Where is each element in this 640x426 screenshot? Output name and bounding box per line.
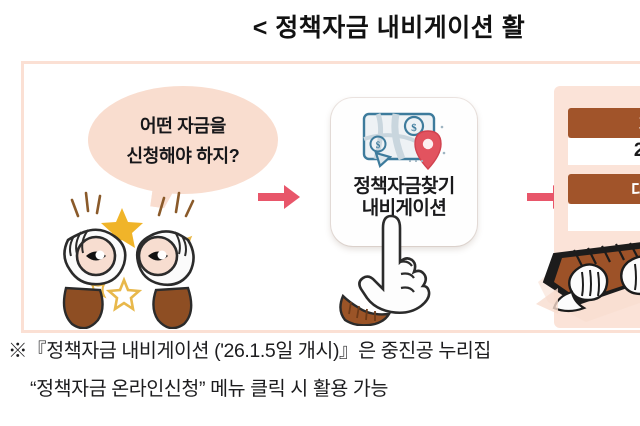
form-field-representative-label: 대표자 — [568, 174, 640, 204]
form-field-company-label: 회사 — [568, 108, 640, 138]
bubble-line-2: 신청해야 하지? — [127, 142, 240, 168]
diagram-frame: 어떤 자금을 신청해야 하지? — [21, 61, 640, 333]
footnote-block: ※『정책자금 내비게이션 ('26.1.5일 개시)』은 중진공 누리집 “정책… — [0, 341, 640, 400]
searching-hands-icon — [48, 184, 228, 329]
app-card-line-1: 정책자금찾기 — [353, 176, 454, 198]
flow-arrow-1 — [256, 182, 302, 212]
typing-hands-keyboard-icon — [532, 216, 640, 334]
footnote-line-2: “정책자금 온라인신청” 메뉴 클릭 시 활용 가능 — [0, 379, 640, 399]
bubble-line-1: 어떤 자금을 — [140, 112, 226, 138]
map-navigation-pin-icon: $ $ — [356, 109, 452, 171]
footnote-line-1: ※『정책자금 내비게이션 ('26.1.5일 개시)』은 중진공 누리집 — [0, 341, 640, 361]
page-title: < 정책자금 내비게이션 활 — [0, 8, 640, 44]
form-field-company: 회사 2020 — [568, 108, 640, 165]
svg-text:$: $ — [376, 140, 381, 150]
question-speech-bubble: 어떤 자금을 신청해야 하지? — [88, 86, 278, 194]
form-field-company-value[interactable]: 2020 — [568, 138, 640, 165]
pointing-hand-icon — [335, 214, 443, 326]
svg-text:$: $ — [411, 122, 417, 134]
